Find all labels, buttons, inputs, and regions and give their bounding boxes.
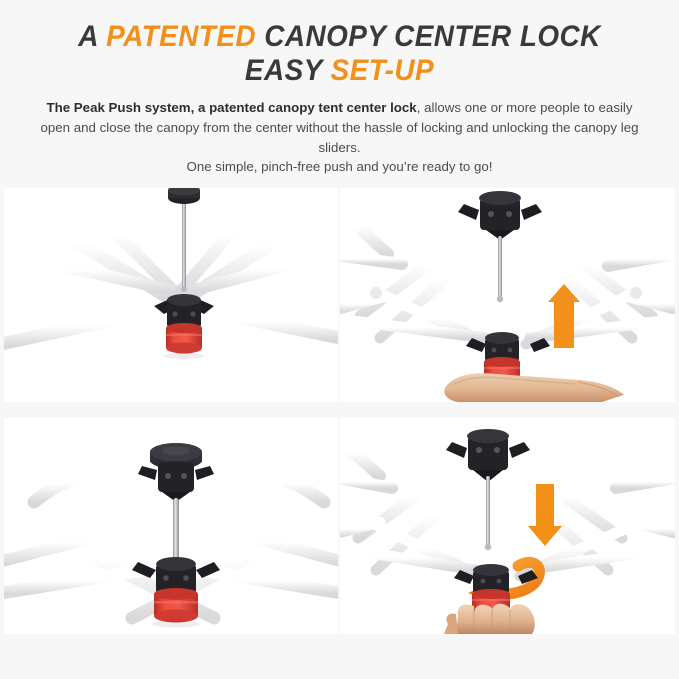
red-lock-cylinder [166,323,202,354]
headline-line-2: EASY SET-UP [24,54,655,88]
canopy-frame-illustration-twist-release [340,418,675,634]
panel-canopy-frame-extended: Canopy frame fully extended with center … [4,418,338,634]
infographic-page: A PATENTED CANOPY CENTER LOCK EASY SET-U… [0,0,679,679]
panel-grid: Canopy frame with center lock retracted,… [0,182,679,679]
canopy-frame-illustration-retracted [4,188,338,402]
red-lock-cylinder [154,588,198,623]
panel-canopy-frame-retracted: Canopy frame with center lock retracted,… [4,188,338,402]
upper-knob [168,188,200,204]
canopy-frame-illustration-push-up [340,188,675,402]
headline-word-a: A [78,20,106,53]
headline-word-patented: PATENTED [106,20,256,53]
headline-word-rest: CANOPY CENTER LOCK [256,20,601,53]
headline-line-1: A PATENTED CANOPY CENTER LOCK [24,20,655,54]
description-closing: One simple, pinch-free push and you’re r… [186,159,492,174]
panel-canopy-frame-twist-release: Two hands gripping and twisting the red … [340,418,675,634]
headline-word-easy: EASY [245,54,331,87]
canopy-frame-illustration-extended [4,418,338,634]
panel-canopy-frame-push-up: One hand pushing the red center lock upw… [340,188,675,402]
headline-word-setup: SET-UP [330,54,434,87]
header-section: A PATENTED CANOPY CENTER LOCK EASY SET-U… [0,0,679,182]
page-title: A PATENTED CANOPY CENTER LOCK EASY SET-U… [24,0,655,87]
description-paragraph: The Peak Push system, a patented canopy … [40,98,640,177]
description-bold-lead: The Peak Push system, a patented canopy … [46,100,416,115]
